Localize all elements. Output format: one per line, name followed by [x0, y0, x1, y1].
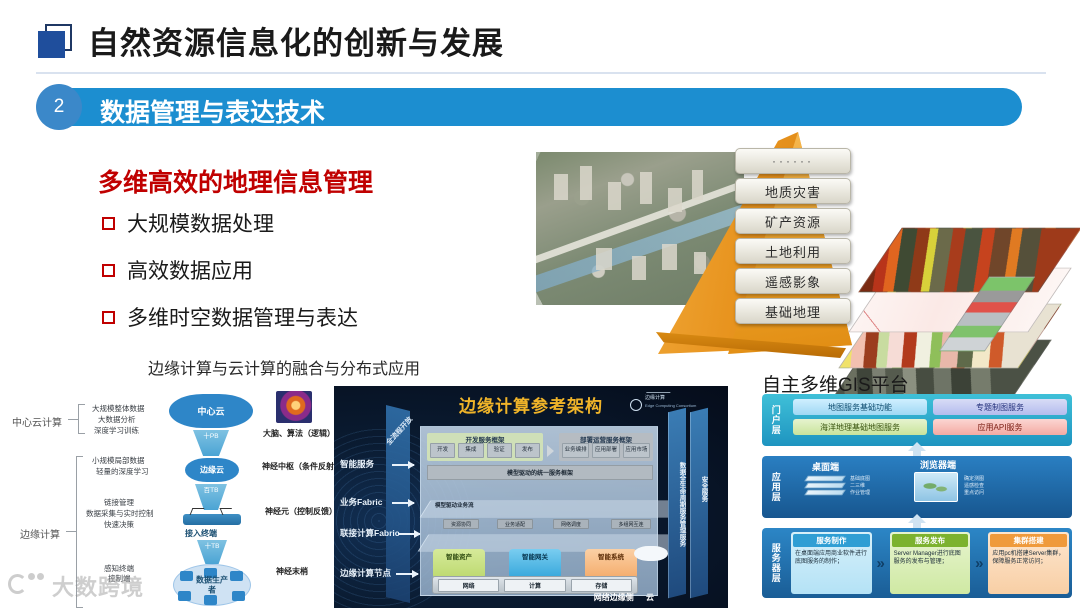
arrow-icon — [392, 464, 414, 466]
caption-gis-platform: 自主多维GIS平台 — [762, 370, 909, 397]
desktop-title: 桌面端 — [812, 460, 839, 473]
card-head: 服务制作 — [793, 534, 870, 547]
double-square-icon — [38, 24, 72, 58]
pyramid-label: 矿产资源 — [735, 208, 851, 234]
unified-framework-bar: 模型驱动的统一服务框架 — [427, 465, 653, 480]
bullet-label: 高效数据应用 — [127, 255, 253, 285]
node-center-cloud: 中心云 — [169, 394, 253, 428]
arrow-icon — [398, 533, 420, 535]
watermark-logo-icon — [8, 572, 46, 596]
square-bullet-icon — [102, 264, 115, 277]
server-layer: 服务器层 服务制作 在桌面端应用商业软件进行底图服务的制作； » 服务发布 Se… — [762, 528, 1072, 598]
portal-pill: 专题制图服务 — [933, 399, 1067, 415]
side-label-smart-service: 智能服务 — [340, 458, 374, 470]
portal-pill: 地图服务基础功能 — [793, 399, 927, 415]
server-card-publish: 服务发布 Server Manager进行底图服务的发布与管理； — [890, 532, 971, 594]
watermark-text: 大数跨境 — [52, 570, 144, 602]
mindmap-item: 数据采集与实时控制 — [86, 509, 154, 520]
fabric-node: 网络调度 — [553, 519, 589, 529]
analogy-label: 神经末梢 — [276, 566, 308, 577]
fabric-node: 资源协同 — [443, 519, 479, 529]
side-label-business-fabric: 业务Fabric — [340, 496, 383, 508]
asset-smart-asset: 智能资产 — [433, 549, 485, 579]
application-layer: 应用层 桌面端 基础底图 二三维 作业管理 浏览器端 确定测图 遥感检查 重点访… — [762, 456, 1072, 518]
photo-building — [596, 248, 612, 270]
list-item: 多维时空数据管理与表达 — [102, 302, 358, 332]
node-label: 数据生产者 — [193, 575, 231, 594]
bullet-label: 多维时空数据管理与表达 — [127, 302, 358, 332]
gis-platform-diagram: 门户层 地图服务基础功能 专题制图服务 海洋地理基础地图服务 应用API服务 应… — [762, 394, 1072, 600]
server-card-make: 服务制作 在桌面端应用商业软件进行底图服务的制作； — [791, 532, 872, 594]
lead-heading: 多维高效的地理信息管理 — [98, 163, 373, 199]
cell: 发布 — [515, 443, 540, 458]
chevron-right-icon: » — [875, 532, 887, 594]
plane-label: 模型驱动业务流 — [435, 501, 474, 509]
photo-building — [554, 174, 568, 200]
portal-pill: 应用API服务 — [933, 419, 1067, 435]
brand-subtitle: Edge Computing Consortium — [645, 403, 696, 408]
card-body: Server Manager进行底图服务的发布与管理； — [892, 549, 969, 592]
node-label: 边缘云 — [185, 465, 239, 476]
analogy-label: 神经中枢（条件反射） — [262, 461, 342, 472]
producer-chip — [232, 591, 245, 601]
ops-cells: 业务编排 应用部署 应用市场 — [559, 443, 653, 461]
router-icon — [183, 514, 241, 525]
bottom-left-label: 网络边缘侧 — [594, 593, 634, 602]
side-label-edge-node: 边缘计算节点 — [340, 567, 391, 579]
slide-root: 自然资源信息化的创新与发展 2 数据管理与表达技术 多维高效的地理信息管理 大规… — [0, 0, 1080, 608]
application-layer-body: 桌面端 基础底图 二三维 作业管理 浏览器端 确定测图 遥感检查 重点访问 — [788, 456, 1072, 518]
portal-layer-body: 地图服务基础功能 专题制图服务 海洋地理基础地图服务 应用API服务 — [788, 394, 1072, 446]
layered-map-graphic — [846, 208, 1072, 384]
funnel-tb-hundred: 百TB — [195, 484, 227, 510]
pyramid-label: 基础地理 — [735, 298, 851, 324]
right-wall-panels: 数据全生命周期服务管理服务 安全服务 — [652, 410, 716, 596]
brand-name: 边缘计算 — [645, 395, 665, 401]
globe-map-icon — [914, 472, 958, 502]
mindmap-item: 小规模局部数据 — [92, 456, 145, 467]
cell: 开发 — [430, 443, 455, 458]
arrow-icon — [392, 502, 414, 504]
group-title: 开发服务框架 — [427, 434, 543, 444]
producer-chip — [178, 591, 191, 601]
mindmap-root-label: 边缘计算 — [20, 526, 60, 541]
header-divider — [36, 72, 1046, 74]
server-layer-tag: 服务器层 — [762, 528, 788, 598]
cell: 验证 — [487, 443, 512, 458]
gear-icon — [630, 399, 642, 411]
mindmap-item: 大规模整体数据 — [92, 404, 145, 415]
funnel-tb-ten: 十TB — [197, 540, 227, 564]
up-arrow-icon — [908, 442, 926, 451]
portal-row: 海洋地理基础地图服务 应用API服务 — [793, 419, 1067, 435]
flow-arrow-icon — [547, 445, 554, 457]
mindmap-connector — [68, 419, 78, 420]
portal-layer-tag: 门户层 — [762, 394, 788, 446]
photo-building — [632, 256, 646, 280]
mindmap-item: 链接管理 — [104, 498, 134, 509]
desktop-subtext: 基础底图 二三维 作业管理 — [850, 476, 870, 496]
cloud-hierarchy-graphic: 中心云 十PB 边缘云 百TB 接入终端 十TB 数据生产者 — [163, 386, 263, 608]
server-layer-body: 服务制作 在桌面端应用商业软件进行底图服务的制作； » 服务发布 Server … — [788, 528, 1072, 598]
mindmap-root-label: 中心云计算 — [12, 414, 62, 429]
application-layer-tag: 应用层 — [762, 456, 788, 518]
analogy-label: 大脑、算法（逻辑） — [263, 428, 335, 439]
side-label-connect-fabric: 联接计算Fabric — [340, 527, 400, 539]
portal-row: 地图服务基础功能 专题制图服务 — [793, 399, 1067, 415]
portal-layer: 门户层 地图服务基础功能 专题制图服务 海洋地理基础地图服务 应用API服务 — [762, 394, 1072, 446]
cell: 集成 — [458, 443, 483, 458]
arrow-icon — [396, 573, 418, 575]
section-number-badge: 2 — [36, 84, 82, 130]
mindmap-item: 深度学习训练 — [94, 426, 139, 437]
tray-cell: 计算 — [504, 579, 565, 592]
bullet-label: 大规模数据处理 — [127, 208, 274, 238]
asset-smart-system: 智能系统 — [585, 549, 637, 579]
bottom-right-label: 云 — [646, 593, 654, 602]
portal-pill: 海洋地理基础地图服务 — [793, 419, 927, 435]
card-body: 在桌面端应用商业软件进行底图服务的制作； — [793, 549, 870, 592]
pyramid-label: 土地利用 — [735, 238, 851, 264]
node-edge-cloud: 边缘云 — [185, 458, 239, 482]
server-card-cluster: 集群搭建 应用pc机搭建Server集群，保障服务正常访问； — [988, 532, 1069, 594]
photo-building — [640, 172, 652, 204]
browser-subtext: 确定测图 遥感检查 重点访问 — [964, 476, 984, 496]
vertical-label-data-lifecycle: 数据全生命周期服务管理服务 — [678, 462, 685, 547]
node-data-producer: 数据生产者 — [173, 564, 251, 606]
mindmap-item: 轻量的深度学习 — [96, 467, 149, 478]
bottom-caption: 网络边缘侧 云 — [594, 592, 654, 603]
dev-cells: 开发 集成 验证 发布 — [427, 443, 543, 461]
cell: 业务编排 — [562, 443, 589, 458]
arch-stage: 开发服务框架 开发 集成 验证 发布 部署运营服务框架 业务编排 应用部署 应用… — [420, 426, 658, 596]
pyramid-label: 地质灾害 — [735, 178, 851, 204]
cell: 应用市场 — [623, 443, 650, 458]
photo-building — [580, 166, 592, 200]
pyramid-label-list: ······ 地质灾害 矿产资源 土地利用 遥感影象 基础地理 — [735, 148, 855, 328]
pyramid-label: 遥感影象 — [735, 268, 851, 294]
mindmap-item: 快速决策 — [104, 520, 134, 531]
ops-service-framework: 部署运营服务框架 业务编排 应用部署 应用市场 — [559, 433, 653, 461]
fabric-node: 多组网互连 — [611, 519, 651, 529]
layer-stack-icon — [806, 474, 846, 502]
producer-chip — [180, 571, 193, 581]
producer-chip — [230, 571, 243, 581]
tray-cell: 存储 — [571, 579, 632, 592]
up-arrow-icon — [908, 514, 926, 523]
section-title: 数据管理与表达技术 — [100, 93, 325, 129]
card-body: 应用pc机搭建Server集群，保障服务正常访问； — [990, 549, 1067, 592]
square-bullet-icon — [102, 217, 115, 230]
vertical-label-security: 安全服务 — [700, 476, 707, 502]
mindmap-brace — [78, 404, 85, 434]
producer-chip — [204, 595, 217, 605]
card-head: 服务发布 — [892, 534, 969, 547]
analogy-label: 神经元（控制反馈） — [265, 506, 337, 517]
card-head: 集群搭建 — [990, 534, 1067, 547]
edge-architecture-panel: 边缘计算参考架构 边缘计算 Edge Computing Consortium … — [334, 386, 728, 608]
list-item: 大规模数据处理 — [102, 208, 358, 238]
list-item: 高效数据应用 — [102, 255, 358, 285]
page-title: 自然资源信息化的创新与发展 — [88, 18, 504, 63]
watermark: 大数跨境 — [8, 566, 160, 602]
node-label: 接入终端 — [185, 528, 217, 539]
browser-title: 浏览器端 — [920, 458, 956, 471]
square-bullet-icon — [102, 311, 115, 324]
photo-building — [608, 182, 621, 210]
tray-cell: 网络 — [438, 579, 499, 592]
mindmap-connector — [66, 531, 76, 532]
wall-security — [690, 408, 708, 598]
fabric-node: 业务适配 — [497, 519, 533, 529]
brain-icon — [276, 391, 312, 423]
mindmap-item: 大数据分析 — [98, 415, 136, 426]
chevron-right-icon: » — [973, 532, 985, 594]
square-filled — [38, 31, 65, 58]
funnel-pb: 十PB — [193, 430, 229, 456]
bullet-list: 大规模数据处理 高效数据应用 多维时空数据管理与表达 — [102, 208, 358, 349]
pyramid-label: ······ — [735, 148, 851, 174]
node-label: 中心云 — [169, 405, 253, 418]
caption-edge-cloud: 边缘计算与云计算的融合与分布式应用 — [148, 355, 420, 379]
dev-service-framework: 开发服务框架 开发 集成 验证 发布 — [427, 433, 543, 461]
group-title: 部署运营服务框架 — [559, 434, 653, 444]
cell: 应用部署 — [592, 443, 619, 458]
asset-smart-gateway: 智能网关 — [509, 549, 561, 579]
